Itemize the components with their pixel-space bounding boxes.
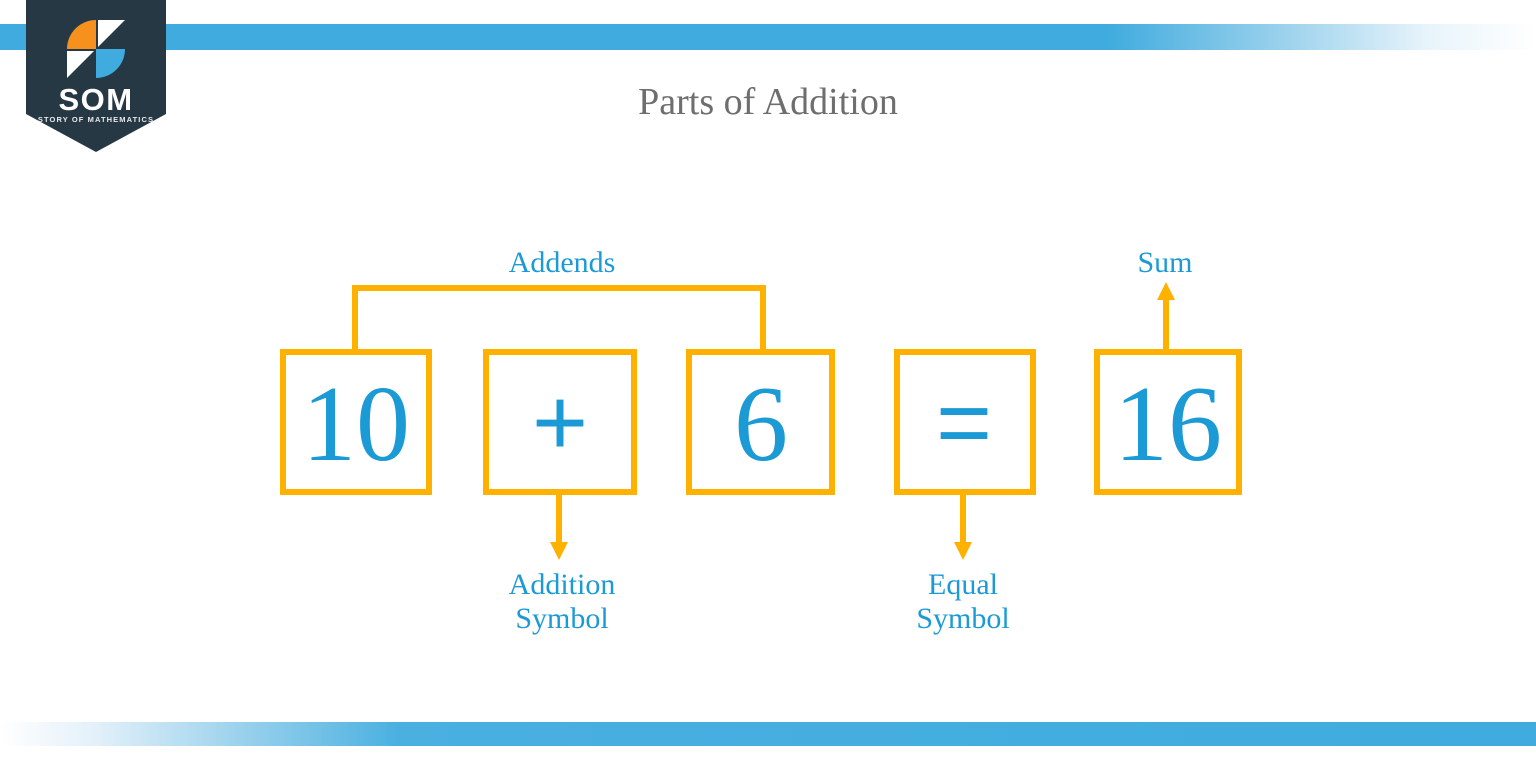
addition-symbol-label-line1: Addition bbox=[509, 568, 616, 601]
addend-2-value: 6 bbox=[734, 365, 788, 484]
addition-symbol-value: + bbox=[532, 369, 588, 476]
addition-symbol-label-line2: Symbol bbox=[515, 602, 608, 635]
addend-1-box[interactable]: 10 bbox=[283, 352, 429, 492]
addition-symbol-box[interactable]: + bbox=[486, 352, 634, 492]
equal-symbol-box[interactable]: = bbox=[897, 352, 1033, 492]
addends-bracket-connector bbox=[355, 288, 763, 352]
addition-symbol-arrow-connector bbox=[550, 492, 568, 560]
sum-value: 16 bbox=[1114, 365, 1222, 484]
equal-symbol-arrow-connector bbox=[954, 492, 972, 560]
equal-symbol-value: = bbox=[936, 369, 992, 476]
addend-1-value: 10 bbox=[302, 365, 410, 484]
sum-arrow-connector bbox=[1157, 282, 1175, 352]
parts-of-addition-diagram: 10 + 6 = 16 Addends Sum Addition Symbol … bbox=[0, 0, 1536, 768]
addition-symbol-label: Addition Symbol bbox=[509, 568, 616, 635]
sum-box[interactable]: 16 bbox=[1097, 352, 1239, 492]
equal-symbol-label: Equal Symbol bbox=[916, 568, 1009, 635]
sum-label: Sum bbox=[1137, 246, 1192, 279]
addend-2-box[interactable]: 6 bbox=[689, 352, 832, 492]
equal-symbol-label-line2: Symbol bbox=[916, 602, 1009, 635]
addends-label: Addends bbox=[509, 246, 616, 279]
equal-symbol-label-line1: Equal bbox=[928, 568, 998, 601]
